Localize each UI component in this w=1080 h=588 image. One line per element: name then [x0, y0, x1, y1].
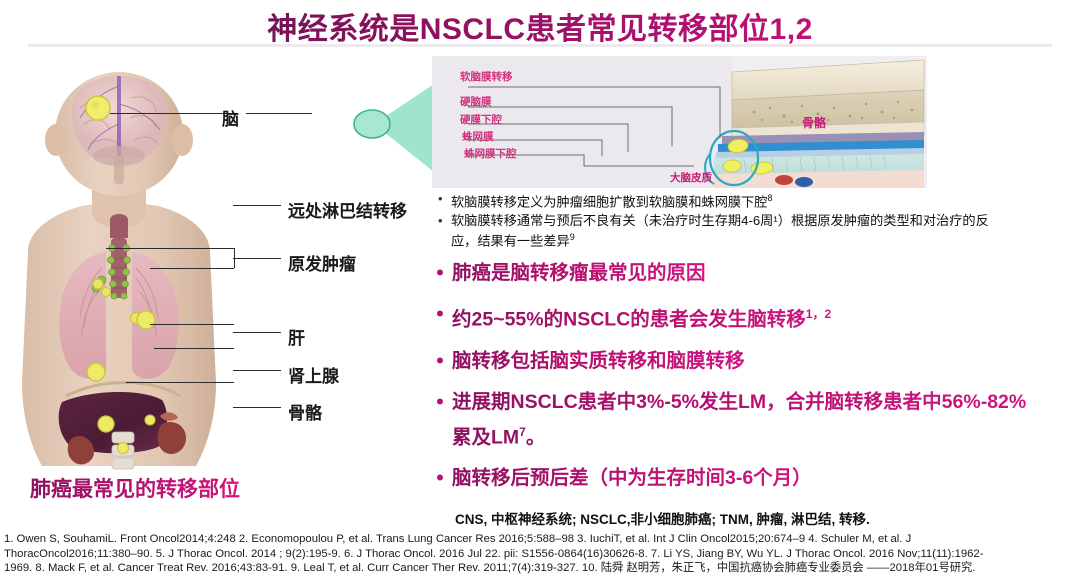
meninges-label-arachnoid: 蛛网膜: [462, 129, 494, 144]
main-bullet-item: • 约25~55%的NSCLC的患者会发生脑转移1，2: [428, 299, 1028, 335]
anatomy-figure: [10, 52, 240, 472]
anatomy-label-bone: 骨骼: [288, 399, 322, 424]
meninges-label-subarachnoid: 蛛网膜下腔: [464, 146, 517, 161]
meninges-label-cortex: 大脑皮质: [670, 170, 712, 185]
figure-caption: 肺癌最常见的转移部位: [30, 473, 240, 503]
bullet-dot-icon: •: [438, 212, 451, 229]
meninges-label-subdural: 硬膜下腔: [460, 112, 502, 127]
leader-line-bone: [126, 382, 234, 383]
main-bullet-text: 肺癌是脑转移瘤最常见的原因: [452, 258, 706, 288]
leader-line-adrenal: [154, 348, 234, 349]
human-body-illustration: [10, 52, 240, 472]
leader-line-liver: [150, 324, 234, 325]
leader-line-lymph: [106, 248, 234, 249]
leader-line-adrenal-2: [233, 370, 281, 371]
bullet-dot-icon: •: [428, 346, 452, 376]
main-bullet-text: 进展期NSCLC患者中3%-5%发生LM，合并脑转移患者中56%-82%累及LM…: [452, 387, 1028, 453]
bullet-dot-icon: •: [438, 190, 451, 207]
meninges-label-dura: 硬脑膜: [460, 94, 492, 109]
tumor-nodule-brain: [86, 96, 110, 120]
main-bullet-text: 脑转移后预后差（中为生存时间3-6个月）: [452, 463, 812, 493]
main-bullet-text: 约25~55%的NSCLC的患者会发生脑转移1，2: [452, 299, 831, 335]
anatomy-label-distant-lymph: 远处淋巴结转移: [288, 197, 407, 222]
leader-line-liver-2: [233, 332, 281, 333]
abbreviations-line: CNS, 中枢神经系统; NSCLC,非小细胞肺癌; TNM, 肿瘤, 淋巴结,…: [455, 508, 1055, 528]
reference-line: 1. Owen S, SouhamiL. Front Oncol2014;4:2…: [4, 532, 1080, 547]
anatomy-label-adrenal: 肾上腺: [288, 362, 339, 387]
leader-line-bone-2: [233, 407, 281, 408]
leader-line-brain: [110, 113, 230, 114]
bullet-dot-icon: •: [428, 258, 452, 288]
main-bullet-text: 脑转移包括脑实质转移和脑膜转移: [452, 346, 745, 376]
tumor-nodule-lung-lower: [87, 363, 105, 381]
anatomy-label-brain: 脑: [222, 105, 239, 130]
leader-line-brain-2: [246, 113, 312, 114]
main-bullet-list: • 肺癌是脑转移瘤最常见的原因 • 约25~55%的NSCLC的患者会发生脑转移…: [428, 258, 1028, 504]
magnifier-cone-icon: [352, 72, 438, 182]
main-bullet-item: • 肺癌是脑转移瘤最常见的原因: [428, 258, 1028, 288]
leader-line-primary: [150, 268, 234, 269]
meninges-label-leptomeningeal: 软脑膜转移: [460, 69, 513, 84]
sub-bullet-list: • 软脑膜转移定义为肿瘤细胞扩散到软脑膜和蛛网膜下腔8 • 软脑膜转移通常与预后…: [438, 190, 998, 251]
reference-line: 1969. 8. Mack F, et al. Cancer Treat Rev…: [4, 561, 1080, 576]
meninges-label-skull: 骨骼: [802, 114, 826, 131]
references-block: 1. Owen S, SouhamiL. Front Oncol2014;4:2…: [4, 532, 1080, 576]
leader-line-primary-2: [233, 258, 281, 259]
sub-bullet-item: • 软脑膜转移定义为肿瘤细胞扩散到软脑膜和蛛网膜下腔8: [438, 190, 998, 211]
bullet-dot-icon: •: [428, 387, 452, 417]
bullet-dot-icon: •: [428, 299, 452, 329]
tumor-nodule-bone: [118, 443, 129, 454]
anatomy-label-primary-tumor: 原发肿瘤: [288, 250, 356, 275]
sub-bullet-text: 软脑膜转移通常与预后不良有关（未治疗时生存期4-6周¹）根据原发肿瘤的类型和对治…: [451, 212, 998, 250]
main-bullet-item: • 脑转移包括脑实质转移和脑膜转移: [428, 346, 1028, 376]
main-bullet-item: • 进展期NSCLC患者中3%-5%发生LM，合并脑转移患者中56%-82%累及…: [428, 387, 1028, 453]
bullet-dot-icon: •: [428, 463, 452, 493]
sub-bullet-item: • 软脑膜转移通常与预后不良有关（未治疗时生存期4-6周¹）根据原发肿瘤的类型和…: [438, 212, 998, 250]
meninges-diagram: 软脑膜转移 硬脑膜 硬膜下腔 蛛网膜 蛛网膜下腔 骨骼 大脑皮质: [432, 56, 927, 188]
leader-line-lymph-2: [233, 205, 281, 206]
anatomy-label-liver: 肝: [288, 324, 305, 349]
page-title: 神经系统是NSCLC患者常见转移部位1,2: [0, 4, 1080, 48]
title-divider: [28, 44, 1052, 47]
slide-root: 神经系统是NSCLC患者常见转移部位1,2: [0, 0, 1080, 588]
reference-line: ThoracOncol2016;11:380–90. 5. J Thorac O…: [4, 547, 1080, 562]
main-bullet-item: • 脑转移后预后差（中为生存时间3-6个月）: [428, 463, 1028, 493]
sub-bullet-text: 软脑膜转移定义为肿瘤细胞扩散到软脑膜和蛛网膜下腔8: [451, 190, 773, 211]
tumor-nodule-adrenal: [145, 415, 155, 425]
tumor-nodule-liver: [98, 416, 114, 432]
tumor-nodule-lung: [137, 311, 155, 329]
